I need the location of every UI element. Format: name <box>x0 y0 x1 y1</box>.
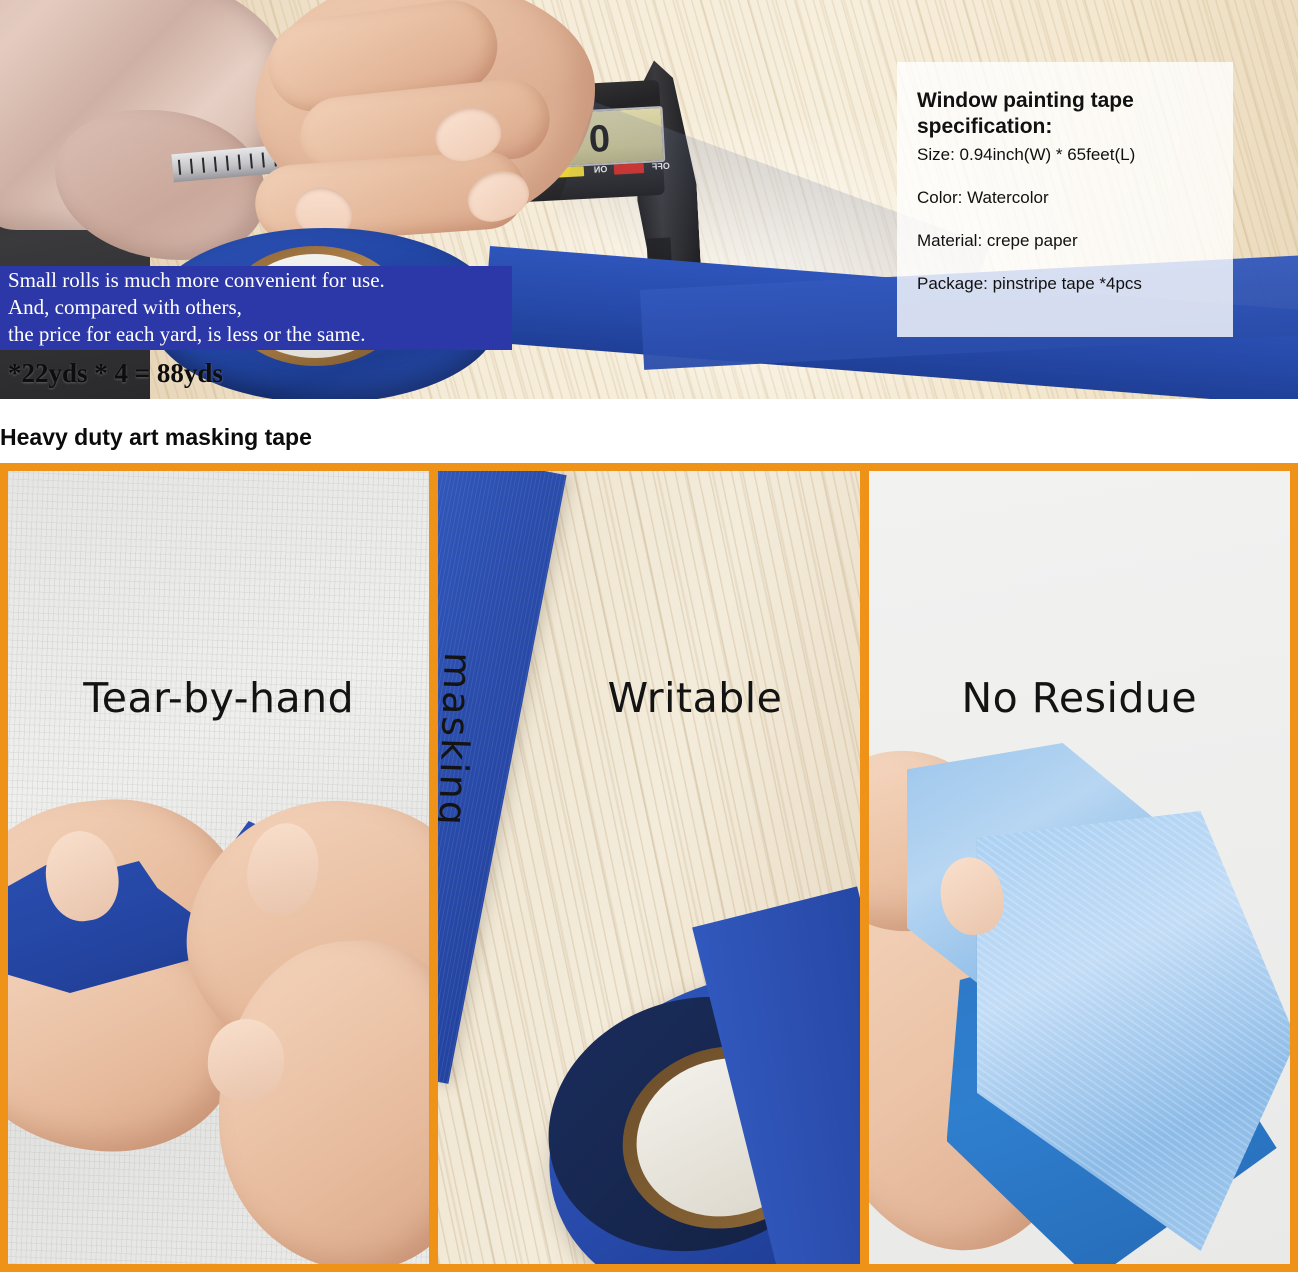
feature-gallery: Tear-by-hand masking Writable <box>0 463 1298 1272</box>
panel-writable: masking Writable <box>438 471 859 1264</box>
caption-line-2: And, compared with others, <box>0 293 512 320</box>
panel-tear-by-hand: Tear-by-hand <box>8 471 429 1264</box>
spec-material: Material: crepe paper <box>917 229 1207 253</box>
spec-title: Window painting tape specification: <box>917 88 1207 140</box>
section-heading: Heavy duty art masking tape <box>0 424 312 451</box>
specification-card: Window painting tape specification: Size… <box>897 62 1233 337</box>
spec-package: Package: pinstripe tape *4pcs <box>917 272 1207 296</box>
panel-label-writable: Writable <box>484 674 859 722</box>
product-listing-page: Caliper mm/inch 0.50 ZERO ON O <box>0 0 1298 1272</box>
yardage-note: *22yds * 4 = 88yds <box>8 358 223 389</box>
hero-measurement-photo: Caliper mm/inch 0.50 ZERO ON O <box>0 0 1298 399</box>
panel-label-tear-by-hand: Tear-by-hand <box>8 674 429 722</box>
caption-line-1: Small rolls is much more convenient for … <box>0 266 512 293</box>
panel-label-no-residue: No Residue <box>869 674 1290 722</box>
spec-size: Size: 0.94inch(W) * 65feet(L) <box>917 143 1207 167</box>
caption-line-3: the price for each yard, is less or the … <box>0 320 512 347</box>
spec-color: Color: Watercolor <box>917 186 1207 210</box>
panel-no-residue: No Residue <box>869 471 1290 1264</box>
caption-overlay: Small rolls is much more convenient for … <box>0 266 512 350</box>
handwritten-word: masking <box>438 651 480 827</box>
